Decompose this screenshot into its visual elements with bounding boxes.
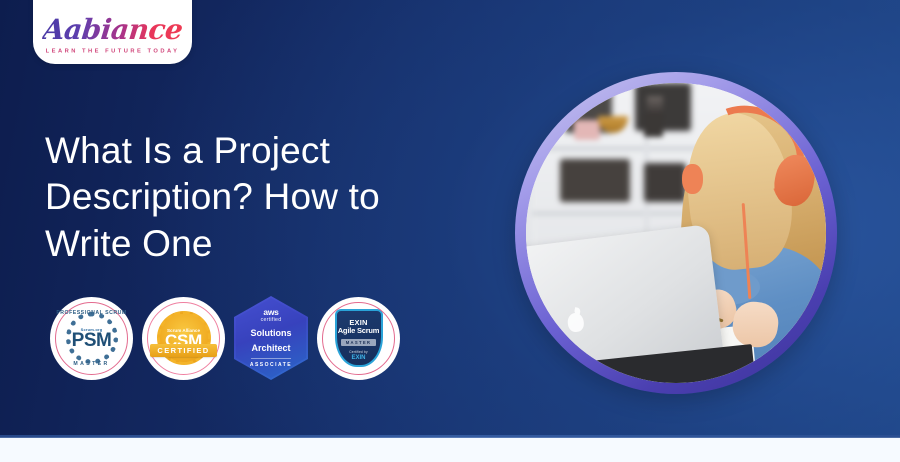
badge-ring-icon <box>322 302 395 375</box>
brand-logo[interactable]: Aabiance LEARN THE FUTURE TODAY <box>33 0 192 64</box>
hero-photo <box>526 83 826 383</box>
shelf-item <box>574 120 600 139</box>
hero-photo-ring <box>515 72 837 394</box>
badge-exin-certified-by-label: Certified by <box>349 350 368 354</box>
cup <box>644 114 663 138</box>
badge-exin-circle: EXIN Agile Scrum MASTER Certified by EXI… <box>317 297 400 380</box>
badge-psm-arc-bottom: MASTER <box>50 361 133 367</box>
badge-aws-certified-label: certified <box>261 317 282 323</box>
headphone-earcup <box>682 164 703 194</box>
banner-page: Aabiance LEARN THE FUTURE TODAY What Is … <box>0 0 900 462</box>
page-body-area <box>0 438 900 462</box>
badge-exin-agile-scrum-master: EXIN Agile Scrum MASTER Certified by EXI… <box>317 297 400 380</box>
badge-ring-icon <box>147 302 220 375</box>
badge-csm: Scrum Alliance CSM CERTIFIED <box>142 297 225 380</box>
certification-badges: PROFESSIONAL SCRUM Scrum.org PSM MASTER … <box>50 296 400 380</box>
badge-aws-brand: aws <box>263 308 278 317</box>
divider <box>251 358 291 359</box>
badge-csm-ribbon: CERTIFIED <box>150 344 217 357</box>
badge-psm-arc-top: PROFESSIONAL SCRUM <box>50 310 133 316</box>
shelf-item <box>644 163 686 202</box>
page-title: What Is a Project Description? How to Wr… <box>45 128 475 267</box>
badge-psm: PROFESSIONAL SCRUM Scrum.org PSM MASTER <box>50 297 133 380</box>
badge-aws-title-line1: Solutions <box>251 328 292 338</box>
brand-tagline: LEARN THE FUTURE TODAY <box>46 47 180 53</box>
badge-psm-circle: PROFESSIONAL SCRUM Scrum.org PSM MASTER <box>50 297 133 380</box>
shelf-item <box>560 159 630 202</box>
badge-aws-hexagon: aws certified Solutions Architect ASSOCI… <box>234 296 308 380</box>
badge-csm-circle: Scrum Alliance CSM CERTIFIED <box>142 297 225 380</box>
badge-aws-level: ASSOCIATE <box>250 362 292 368</box>
badge-aws-title-line2: Architect <box>251 343 290 353</box>
brand-wordmark: Aabiance <box>41 16 183 44</box>
hero-banner: Aabiance LEARN THE FUTURE TODAY What Is … <box>0 0 900 437</box>
badge-aws-solutions-architect: aws certified Solutions Architect ASSOCI… <box>234 296 308 380</box>
apple-logo-icon <box>567 312 585 333</box>
badge-csm-org: Scrum Alliance <box>167 328 200 333</box>
